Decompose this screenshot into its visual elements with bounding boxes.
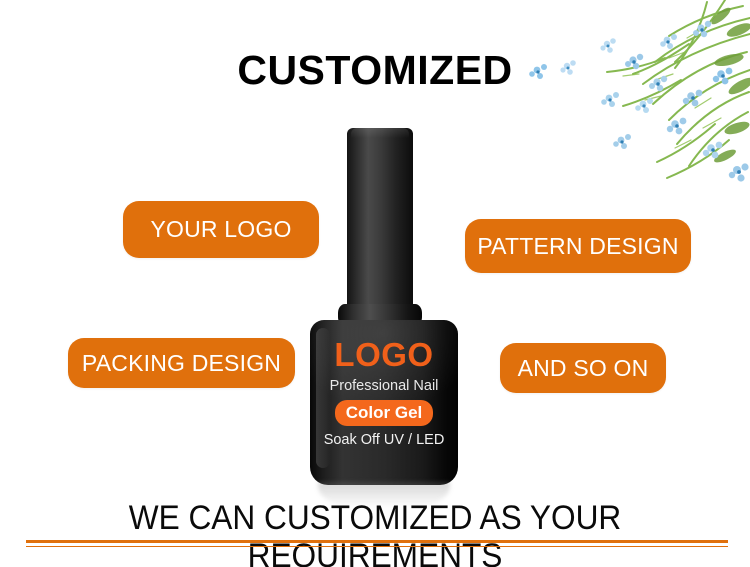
feature-pill-packing-design[interactable]: PACKING DESIGN: [68, 338, 295, 388]
product-bottle: LOGO Professional Nail Color Gel Soak Of…: [300, 128, 470, 493]
bottle-cap: [347, 128, 413, 310]
page-title: CUSTOMIZED: [0, 48, 750, 92]
feature-pill-and-so-on[interactable]: AND SO ON: [500, 343, 666, 393]
label-color-gel-badge: Color Gel: [335, 400, 434, 426]
feature-pill-your-logo[interactable]: YOUR LOGO: [123, 201, 319, 258]
label-subtitle: Professional Nail: [310, 378, 458, 394]
forget-me-not-flowers-icon: [515, 0, 750, 185]
label-logo-text: LOGO: [310, 338, 458, 372]
label-footer-text: Soak Off UV / LED: [310, 432, 458, 448]
promo-banner: CUSTOMIZED: [0, 0, 750, 567]
footer-rule-thin: [26, 546, 728, 547]
bottle-label: LOGO Professional Nail Color Gel Soak Of…: [310, 320, 458, 485]
label-badge-wrap: Color Gel: [310, 400, 458, 426]
feature-pill-pattern-design[interactable]: PATTERN DESIGN: [465, 219, 691, 273]
footer-tagline: WE CAN CUSTOMIZED AS YOUR REQUIREMENTS: [26, 499, 724, 567]
footer-rule-thick: [26, 540, 728, 543]
